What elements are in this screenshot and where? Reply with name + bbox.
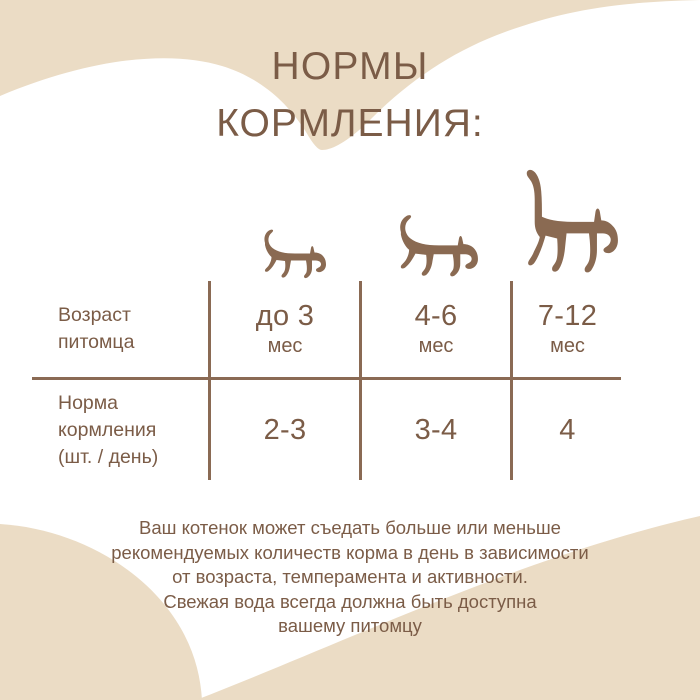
portion-value-col-3: 4 (559, 413, 575, 447)
footnote-line-5: вашему питомцу (0, 614, 700, 639)
cat-slot-adult-cat (506, 150, 630, 282)
feeding-guide-poster: НОРМЫ КОРМЛЕНИЯ: (0, 0, 700, 700)
cat-silhouette-row (0, 150, 700, 282)
age-unit-col-1: мес (268, 333, 303, 359)
footnote-line-1: Ваш котенок может съедать больше или мен… (0, 516, 700, 541)
cat-slot-kitten (238, 150, 346, 282)
portion-value-col-1: 2-3 (264, 413, 307, 447)
cat-slot-young-cat (376, 150, 494, 282)
table-cell-age-col-2: 4-6 мес (362, 281, 510, 377)
table-cell-age-col-1: до 3 мес (211, 281, 359, 377)
title-line-2: КОРМЛЕНИЯ: (0, 95, 700, 152)
footnote-line-2: рекомендуемых количеств корма в день в з… (0, 541, 700, 566)
age-label-line-1: Возраст (58, 302, 131, 329)
feeding-table: Возраст питомца до 3 мес 4-6 мес 7-12 ме… (32, 281, 622, 481)
page-title: НОРМЫ КОРМЛЕНИЯ: (0, 38, 700, 152)
adult-cat-silhouette-icon (513, 166, 623, 282)
portion-label-line-3: (шт. / день) (58, 444, 158, 471)
table-cell-age-col-3: 7-12 мес (513, 281, 622, 377)
footnote-text: Ваш котенок может съедать больше или мен… (0, 516, 700, 639)
table-cell-portion-col-3: 4 (513, 380, 622, 480)
footnote-line-3: от возраста, темперамента и активности. (0, 565, 700, 590)
age-unit-col-2: мес (419, 333, 454, 359)
table-row-label-age: Возраст питомца (58, 281, 208, 377)
footnote-line-4: Свежая вода всегда должна быть доступна (0, 590, 700, 615)
portion-label-line-1: Норма (58, 390, 118, 417)
age-unit-col-3: мес (550, 333, 585, 359)
age-label-line-2: питомца (58, 329, 134, 356)
table-row-label-portion: Норма кормления (шт. / день) (58, 380, 218, 480)
portion-value-col-2: 3-4 (415, 413, 458, 447)
young-cat-silhouette-icon (387, 210, 483, 282)
portion-label-line-2: кормления (58, 417, 156, 444)
kitten-silhouette-icon (254, 226, 330, 282)
table-cell-portion-col-1: 2-3 (211, 380, 359, 480)
title-line-1: НОРМЫ (0, 38, 700, 95)
age-value-col-3: 7-12 (538, 300, 597, 333)
table-cell-portion-col-2: 3-4 (362, 380, 510, 480)
age-value-col-2: 4-6 (415, 300, 458, 333)
age-value-col-1: до 3 (256, 300, 314, 333)
